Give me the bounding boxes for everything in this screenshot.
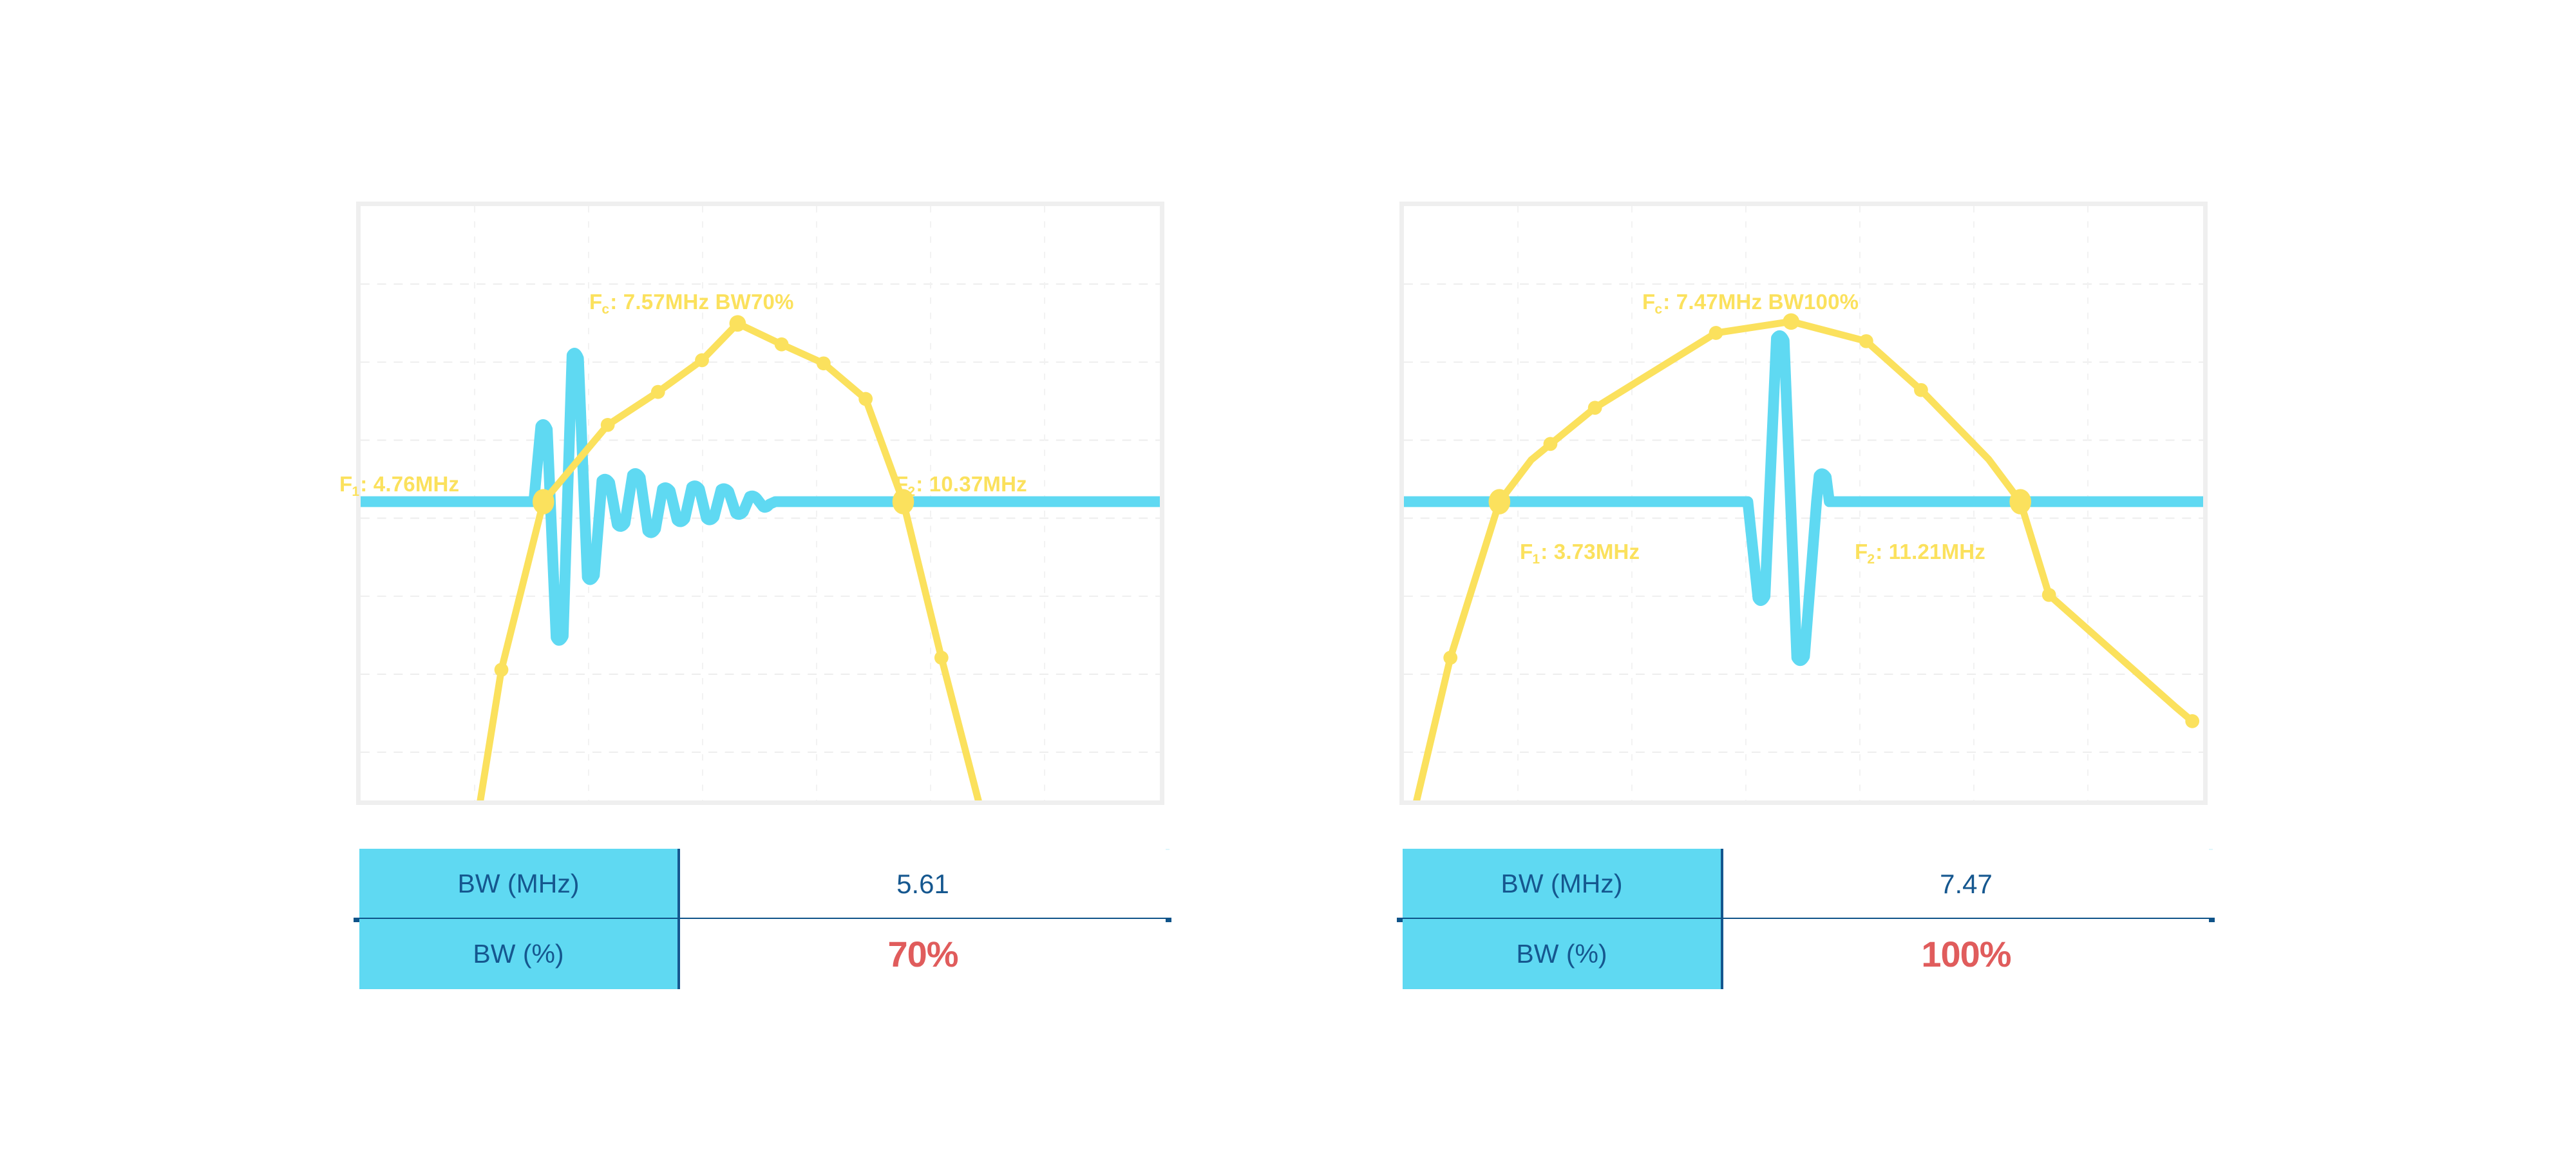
annotation-f1-right: F1: 3.73MHz	[1520, 541, 1640, 562]
table-header-bw-pct: BW (%)	[359, 919, 680, 989]
annotation-f1-left: F1: 4.76MHz	[339, 473, 459, 495]
table-row: BW (MHz) 7.47	[1403, 849, 2209, 919]
bw-percent-value: 100%	[1921, 933, 2011, 975]
measurement-block-right: Fc: 7.47MHz BW100% F1: 3.73MHz F2: 11.21…	[1365, 0, 2248, 1154]
chart-panel-left: Fc: 7.57MHz BW70% F1: 4.76MHz F2: 10.37M…	[356, 202, 1164, 805]
table-value-cell: 100%	[1723, 919, 2209, 989]
table-row: BW (MHz) 5.61	[359, 849, 1166, 919]
annotation-f2-right: F2: 11.21MHz	[1855, 541, 1985, 562]
pulse-waveform-right	[1404, 336, 2203, 661]
spectrum-markers-right	[1443, 313, 2199, 728]
page-root: Fc: 7.57MHz BW70% F1: 4.76MHz F2: 10.37M…	[0, 0, 2576, 1154]
bw-mhz-value: 5.61	[896, 869, 949, 900]
annotation-center-frequency-left: Fc: 7.57MHz BW70%	[589, 291, 794, 312]
table-header-bw-mhz: BW (MHz)	[1403, 849, 1723, 919]
marker-f2	[2009, 489, 2031, 514]
annotation-center-frequency-right: Fc: 7.47MHz BW100%	[1642, 291, 1859, 312]
table-value-cell: 70%	[680, 919, 1166, 989]
bw-mhz-value: 7.47	[1940, 869, 1993, 900]
grid-lines	[1404, 284, 2203, 752]
chart-panel-right: Fc: 7.47MHz BW100% F1: 3.73MHz F2: 11.21…	[1399, 202, 2208, 805]
table-row: BW (%) 100%	[1403, 919, 2209, 989]
marker-f1	[533, 489, 554, 514]
table-value-cell: 7.47	[1723, 849, 2209, 919]
table-header-bw-mhz: BW (MHz)	[359, 849, 680, 919]
pulse-waveform-left	[361, 353, 1160, 640]
results-table-left: BW (MHz) 5.61 BW (%) 70%	[359, 849, 1166, 989]
marker-f1	[1489, 489, 1511, 514]
results-table-right: BW (MHz) 7.47 BW (%) 100%	[1403, 849, 2209, 989]
table-row: BW (%) 70%	[359, 919, 1166, 989]
measurement-block-left: Fc: 7.57MHz BW70% F1: 4.76MHz F2: 10.37M…	[322, 0, 1204, 1154]
annotation-f2-left: F2: 10.37MHz	[895, 473, 1027, 495]
table-header-bw-pct: BW (%)	[1403, 919, 1723, 989]
bw-percent-value: 70%	[887, 933, 958, 975]
table-value-cell: 5.61	[680, 849, 1166, 919]
grid-lines	[361, 284, 1160, 752]
